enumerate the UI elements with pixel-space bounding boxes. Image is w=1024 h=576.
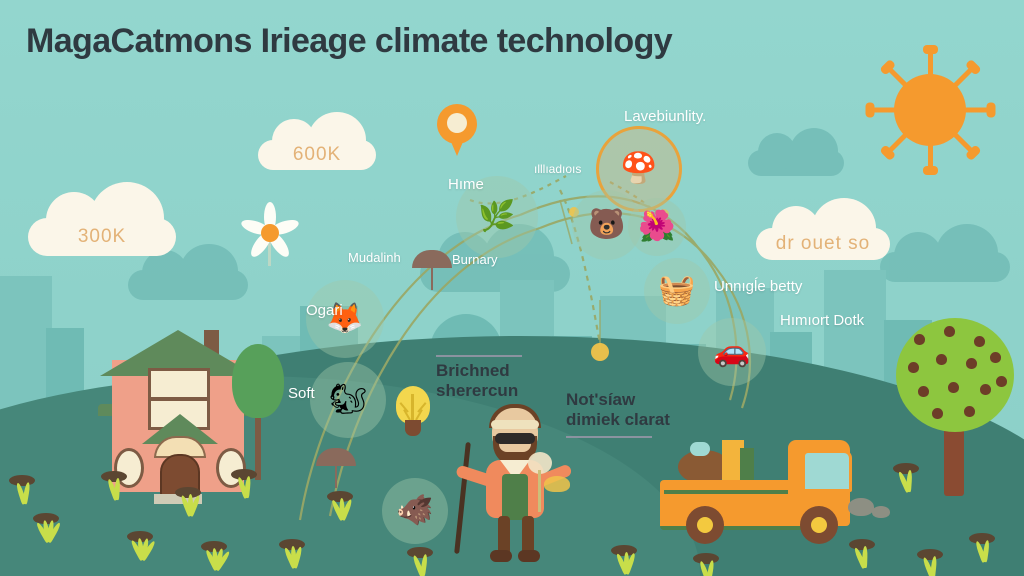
lightbulb-tree-icon (396, 386, 430, 440)
label-soft: Soft (288, 385, 315, 402)
flower-center (261, 224, 279, 242)
rock (872, 506, 890, 518)
callout-line-1: Not'síaw (566, 390, 670, 410)
label-mudalinh: Mudalinh (348, 250, 401, 265)
node-icon: 🦊 (306, 280, 384, 358)
callout-left: Brichned sherercun (436, 350, 522, 401)
person-headband (491, 420, 539, 429)
small-tree-canopy (232, 344, 284, 418)
label-illiadois: ılllıadıoıs (534, 162, 581, 176)
bulb-base (405, 420, 421, 436)
node-bubble[interactable]: 🧺 (644, 258, 710, 324)
person-shoe (490, 550, 512, 562)
node-icon: 🚗 (698, 318, 766, 386)
page-title: MagaCatmons Irieage climate technology (26, 22, 826, 61)
cloud-badge-right: dr ouet so (756, 228, 890, 260)
node-bubble[interactable]: 🦊 (306, 280, 384, 358)
map-pin-icon[interactable] (437, 104, 477, 156)
callout-rule (566, 436, 652, 438)
truck-window (802, 450, 852, 492)
callout-line-1: Brichned (436, 361, 522, 381)
sun-icon (866, 46, 994, 174)
label-himiort-dotk: Hımıort Dotk (780, 312, 864, 329)
node-icon: 🧺 (644, 258, 710, 324)
truck-wheel (800, 506, 838, 544)
bulb-tree-trunk (411, 394, 414, 420)
illustration-canvas: 🍄 🌿 🐻 🌺 🦊 🐿 🧺 🚗 🐗 600K 300K dr ouet so (0, 0, 1024, 576)
map-pin-dot (447, 113, 467, 133)
label-hime: Hıme (448, 176, 484, 193)
node-icon: 🌺 (628, 198, 686, 256)
person-shoe (518, 550, 540, 562)
label-ogari: Ogari (306, 302, 343, 319)
rock (848, 498, 874, 516)
delivery-truck-illustration (660, 424, 856, 552)
cloud-label: 600K (258, 144, 376, 166)
truck-bed-stripe (664, 490, 806, 494)
dandelion-shape (520, 452, 566, 512)
callout-right: Not'síaw dimiek clarat (566, 390, 670, 438)
truck-cargo (678, 440, 768, 484)
node-bubble[interactable]: 🚗 (698, 318, 766, 386)
person-sunglasses (495, 433, 535, 444)
house-window (148, 368, 210, 400)
cloud-label: dr ouet so (756, 233, 890, 255)
cloud-label: 300K (28, 226, 176, 248)
callout-line-2: sherercun (436, 381, 522, 401)
node-bubble[interactable]: 🌺 (628, 198, 686, 256)
node-bubble[interactable]: 🐿 (310, 362, 386, 438)
sun-disc (894, 74, 966, 146)
house-illustration (98, 308, 258, 498)
label-lavebiunlity: Lavebiunlity. (624, 108, 706, 125)
cloud-badge-300k: 300K (28, 218, 176, 256)
label-burnary: Burnary (452, 252, 498, 267)
callout-rule (436, 355, 522, 357)
flower-icon (238, 196, 300, 268)
callout-line-2: dimiek clarat (566, 410, 670, 430)
cloud-badge-600k: 600K (258, 140, 376, 170)
node-bubble[interactable]: 🐗 (382, 478, 448, 544)
label-unnigle-betty: Unnıgĺe betty (714, 278, 802, 295)
node-icon: 🐗 (382, 478, 448, 544)
truck-wheel (686, 506, 724, 544)
node-icon: 🐿 (310, 362, 386, 438)
fruit-tree-illustration (896, 318, 1014, 432)
